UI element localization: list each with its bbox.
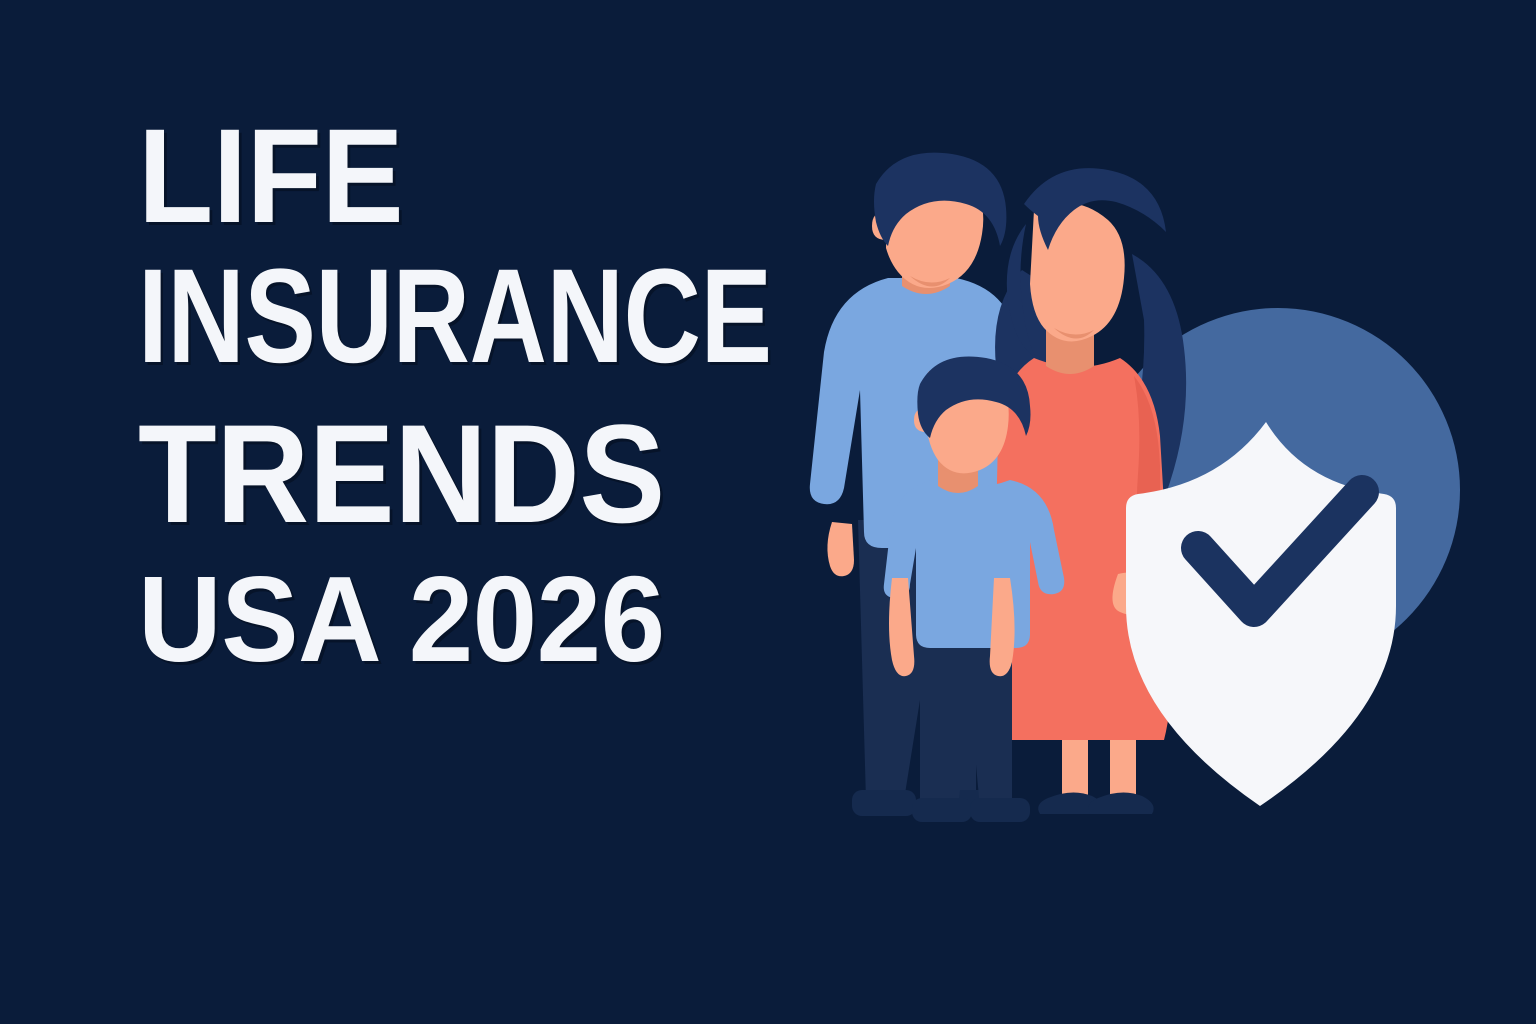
headline-line-2: INSURANCE [138, 252, 746, 382]
headline-line-1: LIFE [138, 112, 837, 242]
poster-canvas: LIFE INSURANCE TRENDS USA 2026 [0, 0, 1536, 1024]
page-title: LIFE INSURANCE TRENDS USA 2026 [138, 112, 898, 678]
headline-line-4: USA 2026 [138, 560, 860, 678]
headline-line-3: TRENDS [138, 406, 837, 542]
